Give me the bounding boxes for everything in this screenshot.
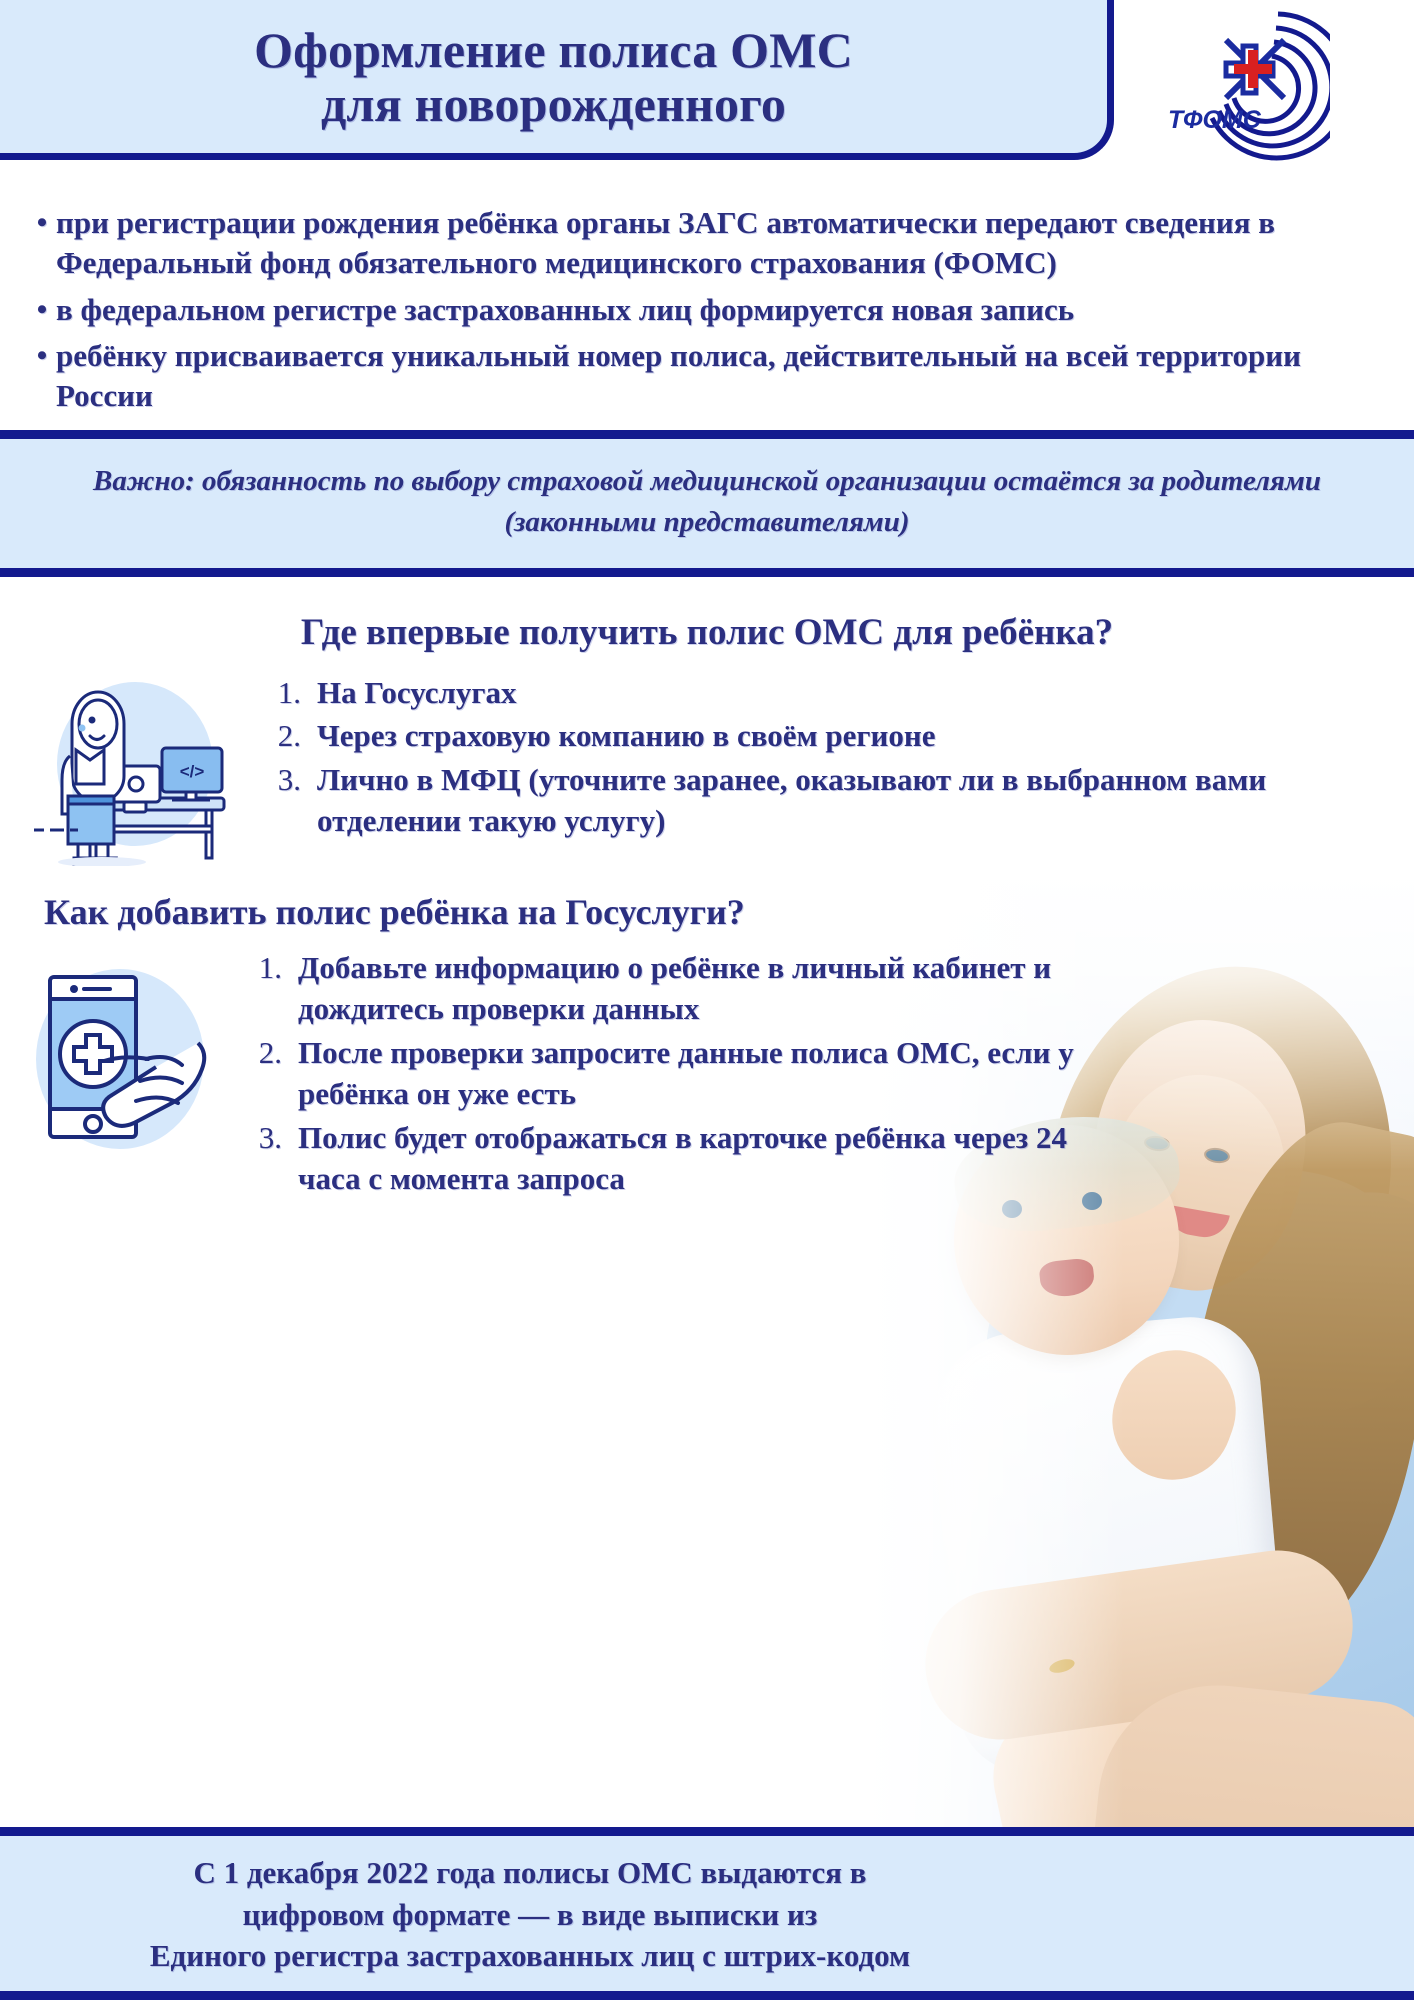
page-title-line-2: для новорожденного xyxy=(254,77,853,131)
footer-line-1: С 1 декабря 2022 года полисы ОМС выдаютс… xyxy=(0,1852,1060,1894)
list-item-number: 2. xyxy=(253,715,317,757)
bullet-dot-icon: • xyxy=(28,290,56,329)
important-callout: Важно: обязанность по выбору страховой м… xyxy=(0,430,1414,576)
infographic-page: Оформление полиса ОМС для новорожденного xyxy=(0,0,1414,2000)
list-item-number: 3. xyxy=(253,759,317,801)
list-item: • при регистрации рождения ребёнка орган… xyxy=(28,203,1374,284)
list-item-number: 2. xyxy=(234,1032,298,1074)
tfoms-logo: ТФОМС xyxy=(1160,6,1330,166)
list-item: 1. Добавьте информацию о ребёнке в личны… xyxy=(234,947,1084,1030)
important-callout-text: Важно: обязанность по выбору страховой м… xyxy=(70,461,1344,541)
page-title-line-1: Оформление полиса ОМС xyxy=(254,23,853,77)
section-how-heading: Как добавить полис ребёнка на Госуслуги? xyxy=(44,891,1414,933)
list-item-text: После проверки запросите данные полиса О… xyxy=(298,1032,1084,1115)
logo-text: ТФОМС xyxy=(1168,106,1262,134)
facts-bullet-list: • при регистрации рождения ребёнка орган… xyxy=(0,203,1414,416)
list-item: 1. На Госуслугах xyxy=(253,672,1374,714)
list-item-number: 1. xyxy=(253,672,317,714)
section-where-body: </> 1 xyxy=(0,672,1414,871)
tfoms-logo-icon: ТФОМС xyxy=(1160,6,1330,166)
footer-line-2: цифровом формате — в виде выписки из xyxy=(0,1894,1060,1936)
woman-at-desk-icon: </> xyxy=(20,666,235,871)
page-title: Оформление полиса ОМС для новорожденного xyxy=(228,23,879,131)
monitor-code-label: </> xyxy=(180,762,205,781)
title-box: Оформление полиса ОМС для новорожденного xyxy=(0,0,1114,160)
bullet-dot-icon: • xyxy=(28,336,56,375)
section-where-heading: Где впервые получить полис ОМС для ребён… xyxy=(0,611,1414,654)
list-item-number: 1. xyxy=(234,947,298,989)
list-item-text: в федеральном регистре застрахованных ли… xyxy=(56,290,1374,330)
footer-line-3: Единого регистра застрахованных лиц с шт… xyxy=(0,1935,1060,1977)
list-item: • ребёнку присваивается уникальный номер… xyxy=(28,336,1374,417)
list-item-number: 3. xyxy=(234,1117,298,1159)
section-where-list: 1. На Госуслугах 2. Через страховую комп… xyxy=(253,672,1374,844)
list-item-text: Полис будет отображаться в карточке ребё… xyxy=(298,1117,1084,1200)
list-item: • в федеральном регистре застрахованных … xyxy=(28,290,1374,330)
section-how-list: 1. Добавьте информацию о ребёнке в личны… xyxy=(234,947,1084,1202)
list-item-text: ребёнку присваивается уникальный номер п… xyxy=(56,336,1374,417)
header: Оформление полиса ОМС для новорожденного xyxy=(0,0,1414,175)
list-item: 2. После проверки запросите данные полис… xyxy=(234,1032,1084,1115)
list-item: 3. Лично в МФЦ (уточните заранее, оказыв… xyxy=(253,759,1374,842)
list-item-text: Лично в МФЦ (уточните заранее, оказывают… xyxy=(317,759,1374,842)
list-item-text: при регистрации рождения ребёнка органы … xyxy=(56,203,1374,284)
list-item: 2. Через страховую компанию в своём реги… xyxy=(253,715,1374,757)
bullet-dot-icon: • xyxy=(28,203,56,242)
footer-banner: С 1 декабря 2022 года полисы ОМС выдаютс… xyxy=(0,1827,1414,2000)
section-how-body: 1. Добавьте информацию о ребёнке в личны… xyxy=(0,947,1414,1202)
list-item: 3. Полис будет отображаться в карточке р… xyxy=(234,1117,1084,1200)
list-item-text: На Госуслугах xyxy=(317,672,1374,714)
list-item-text: Через страховую компанию в своём регионе xyxy=(317,715,1374,757)
list-item-text: Добавьте информацию о ребёнке в личный к… xyxy=(298,947,1084,1030)
phone-tap-icon xyxy=(20,951,220,1166)
